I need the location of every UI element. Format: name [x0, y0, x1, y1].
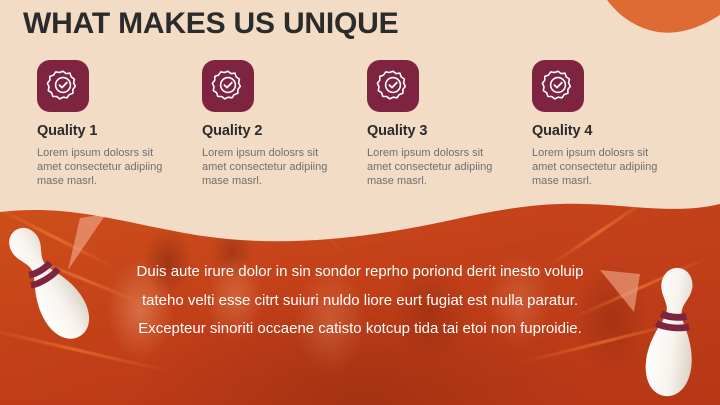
quote-line-1: Duis aute irure dolor in sin sondor repr… [60, 258, 660, 287]
feature-item-quality-4[interactable]: Quality 4 Lorem ipsum dolosrs sit amet c… [532, 60, 697, 188]
verified-badge-check-icon [202, 60, 254, 112]
verified-badge-check-icon [367, 60, 419, 112]
feature-title: Quality 4 [532, 123, 697, 139]
feature-body: Lorem ipsum dolosrs sit amet consectetur… [37, 146, 180, 188]
feature-body: Lorem ipsum dolosrs sit amet consectetur… [202, 146, 345, 188]
slide-canvas: WHAT MAKES US UNIQUE Quality 1 Lorem ips… [0, 0, 720, 405]
quote-text: Duis aute irure dolor in sin sondor repr… [60, 258, 660, 344]
orange-wave-blob-icon [582, 0, 720, 62]
feature-item-quality-3[interactable]: Quality 3 Lorem ipsum dolosrs sit amet c… [367, 60, 532, 188]
feature-columns: Quality 1 Lorem ipsum dolosrs sit amet c… [37, 60, 697, 188]
feature-title: Quality 1 [37, 123, 202, 139]
page-title: WHAT MAKES US UNIQUE [23, 7, 398, 41]
verified-badge-check-icon [37, 60, 89, 112]
feature-title: Quality 2 [202, 123, 367, 139]
feature-body: Lorem ipsum dolosrs sit amet consectetur… [532, 146, 675, 188]
quote-banner: Duis aute irure dolor in sin sondor repr… [0, 190, 720, 405]
feature-title: Quality 3 [367, 123, 532, 139]
quote-line-2: tateho velti esse citrt suiuri nuldo lio… [60, 287, 660, 316]
feature-item-quality-1[interactable]: Quality 1 Lorem ipsum dolosrs sit amet c… [37, 60, 202, 188]
verified-badge-check-icon [532, 60, 584, 112]
feature-item-quality-2[interactable]: Quality 2 Lorem ipsum dolosrs sit amet c… [202, 60, 367, 188]
feature-body: Lorem ipsum dolosrs sit amet consectetur… [367, 146, 510, 188]
quote-line-3: Excepteur sinoriti occaene catisto kotcu… [60, 315, 660, 344]
